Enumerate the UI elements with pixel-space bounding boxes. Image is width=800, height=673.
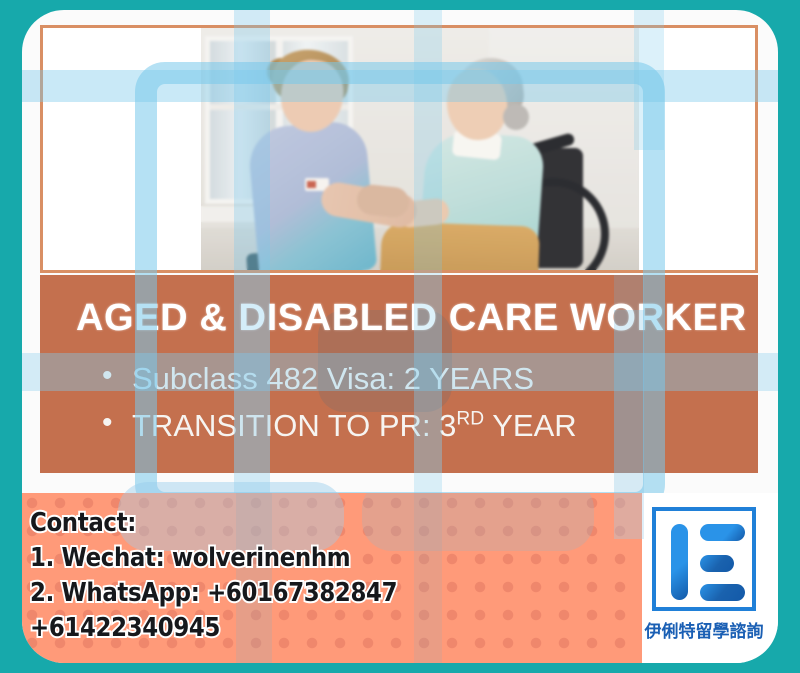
contact-whatsapp[interactable]: 2. WhatsApp: +60167382847 <box>30 576 397 611</box>
contact-heading: Contact: <box>30 506 397 541</box>
logo-bar-i <box>671 524 688 600</box>
page-title: AGED & DISABLED CARE WORKER <box>76 297 747 340</box>
poster-canvas: AGED & DISABLED CARE WORKER Subclass 482… <box>0 0 800 673</box>
contact-section: Contact: 1. Wechat: wolverinenhm 2. What… <box>22 493 778 663</box>
photo-frame <box>40 25 758 273</box>
poster-card: AGED & DISABLED CARE WORKER Subclass 482… <box>22 10 778 663</box>
hero-photo <box>201 28 639 270</box>
benefit-item-visa: Subclass 482 Visa: 2 YEARS <box>102 355 577 402</box>
contact-details: Contact: 1. Wechat: wolverinenhm 2. What… <box>30 506 447 646</box>
benefit-item-pr-ordinal: RD <box>456 409 484 430</box>
benefit-item-pr-text: TRANSITION TO PR: 3 <box>132 408 456 443</box>
company-logo[interactable]: 伊俐特留學諮詢 <box>642 507 766 655</box>
contact-wechat[interactable]: 1. Wechat: wolverinenhm <box>30 541 397 576</box>
logo-bar-e3 <box>700 584 745 601</box>
logo-bar-e2 <box>700 555 734 572</box>
benefit-item-pr: TRANSITION TO PR: 3RD YEAR <box>102 402 577 449</box>
logo-bar-e1 <box>700 524 745 541</box>
benefit-item-pr-suffix: YEAR <box>484 408 576 443</box>
contact-phone-secondary[interactable]: +61422340945 <box>30 611 397 646</box>
logo-caption: 伊俐特留學諮詢 <box>642 617 766 642</box>
benefit-item-visa-text: Subclass 482 Visa: 2 YEARS <box>132 361 534 396</box>
photo-soft-focus-layer <box>201 28 639 270</box>
logo-mark-icon <box>652 507 756 611</box>
headline-band: AGED & DISABLED CARE WORKER Subclass 482… <box>40 275 758 473</box>
benefit-list: Subclass 482 Visa: 2 YEARS TRANSITION TO… <box>102 355 577 449</box>
contact-overlay-stripe-3 <box>614 493 644 539</box>
